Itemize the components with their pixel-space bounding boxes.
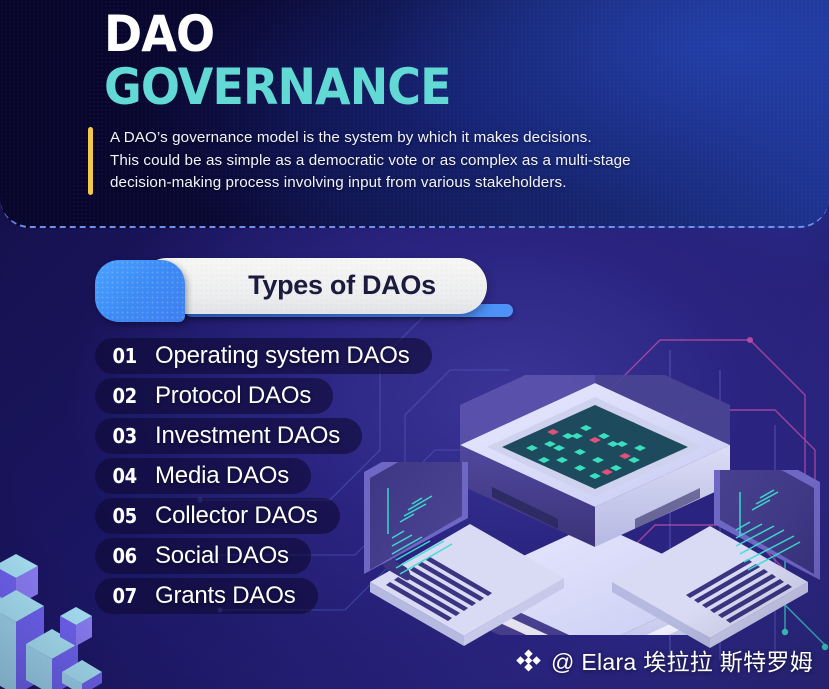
circuit-traces-right <box>600 330 829 660</box>
banner-label: Types of DAOs <box>207 270 477 301</box>
types-of-daos-banner: Types of DAOs <box>95 258 490 326</box>
accent-bar <box>88 127 93 195</box>
list-item-number: 04 <box>113 464 140 488</box>
list-item-label: Social DAOs <box>155 542 289 570</box>
list-item-number: 06 <box>113 544 140 568</box>
list-item[interactable]: 02 Protocol DAOs <box>95 378 333 414</box>
list-item-label: Protocol DAOs <box>155 382 311 410</box>
list-item-number: 02 <box>113 384 140 408</box>
binance-diamond-icon <box>515 647 542 674</box>
list-item[interactable]: 06 Social DAOs <box>95 538 311 574</box>
description-text: A DAO’s governance model is the system b… <box>110 127 631 195</box>
banner-chip-icon <box>95 260 185 322</box>
watermark: @ Elara 埃拉拉 斯特罗姆 <box>515 643 813 677</box>
list-item-label: Investment DAOs <box>155 422 340 450</box>
list-item[interactable]: 01 Operating system DAOs <box>95 338 432 374</box>
page-title: DAO GOVERNANCE <box>104 8 481 114</box>
list-item-number: 03 <box>113 424 140 448</box>
list-item[interactable]: 05 Collector DAOs <box>95 498 340 534</box>
list-item-label: Operating system DAOs <box>155 342 410 370</box>
list-item[interactable]: 07 Grants DAOs <box>95 578 318 614</box>
list-item-number: 05 <box>113 504 140 528</box>
list-item-label: Media DAOs <box>155 462 289 490</box>
infographic-canvas: DAO GOVERNANCE A DAO’s governance model … <box>0 0 829 689</box>
title-line-governance: GOVERNANCE <box>104 60 451 114</box>
list-item[interactable]: 04 Media DAOs <box>95 458 311 494</box>
list-item-label: Collector DAOs <box>155 502 318 530</box>
list-item[interactable]: 03 Investment DAOs <box>95 418 362 454</box>
description-block: A DAO’s governance model is the system b… <box>88 127 631 195</box>
list-item-label: Grants DAOs <box>155 582 296 610</box>
header-card: DAO GOVERNANCE A DAO’s governance model … <box>0 0 829 228</box>
list-item-number: 07 <box>113 584 140 608</box>
dao-types-list: 01 Operating system DAOs 02 Protocol DAO… <box>95 338 432 618</box>
title-line-dao: DAO <box>104 8 451 60</box>
watermark-handle: @ Elara 埃拉拉 斯特罗姆 <box>551 643 813 677</box>
list-item-number: 01 <box>113 344 140 368</box>
isometric-server-illustration <box>430 375 760 635</box>
